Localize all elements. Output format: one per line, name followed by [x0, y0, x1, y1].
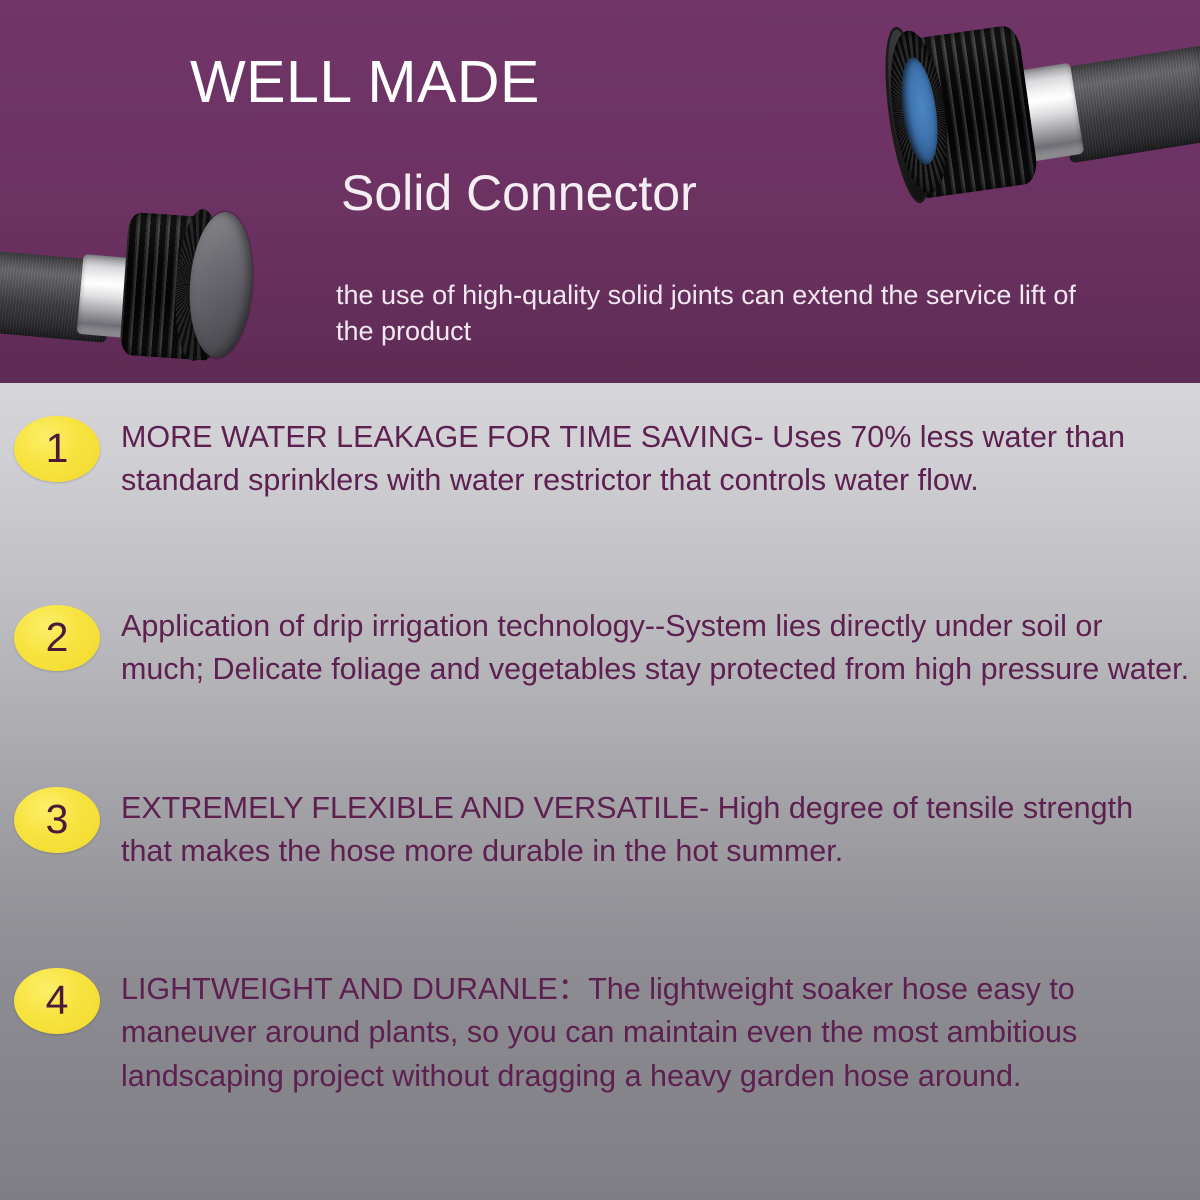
feature-item-1: 1 MORE WATER LEAKAGE FOR TIME SAVING- Us…	[0, 416, 1200, 503]
feature-number-4: 4	[46, 980, 69, 1021]
hero-title: WELL MADE	[190, 53, 540, 112]
feature-item-3: 3 EXTREMELY FLEXIBLE AND VERSATILE- High…	[0, 787, 1200, 874]
feature-list: 1 MORE WATER LEAKAGE FOR TIME SAVING- Us…	[0, 383, 1200, 1200]
feature-number-1: 1	[46, 428, 69, 469]
feature-number-badge-1: 1	[14, 416, 100, 482]
feature-text-3: EXTREMELY FLEXIBLE AND VERSATILE- High d…	[121, 787, 1192, 874]
feature-number-2: 2	[46, 617, 69, 658]
hero-subtitle: Solid Connector	[341, 168, 697, 218]
feature-text-4: LIGHTWEIGHT AND DURANLE：The lightweight …	[121, 968, 1192, 1098]
feature-item-4: 4 LIGHTWEIGHT AND DURANLE：The lightweigh…	[0, 968, 1200, 1098]
product-infographic: WELL MADE Solid Connector the use of hig…	[0, 0, 1200, 1200]
feature-text-2: Application of drip irrigation technolog…	[121, 605, 1192, 692]
feature-text-1: MORE WATER LEAKAGE FOR TIME SAVING- Uses…	[121, 416, 1192, 503]
feature-number-3: 3	[46, 799, 69, 840]
feature-number-badge-4: 4	[14, 968, 100, 1034]
feature-number-badge-3: 3	[14, 787, 100, 853]
feature-item-2: 2 Application of drip irrigation technol…	[0, 605, 1200, 692]
hero-banner: WELL MADE Solid Connector the use of hig…	[0, 0, 1200, 383]
hero-description: the use of high-quality solid joints can…	[336, 278, 1106, 350]
feature-number-badge-2: 2	[14, 605, 100, 671]
